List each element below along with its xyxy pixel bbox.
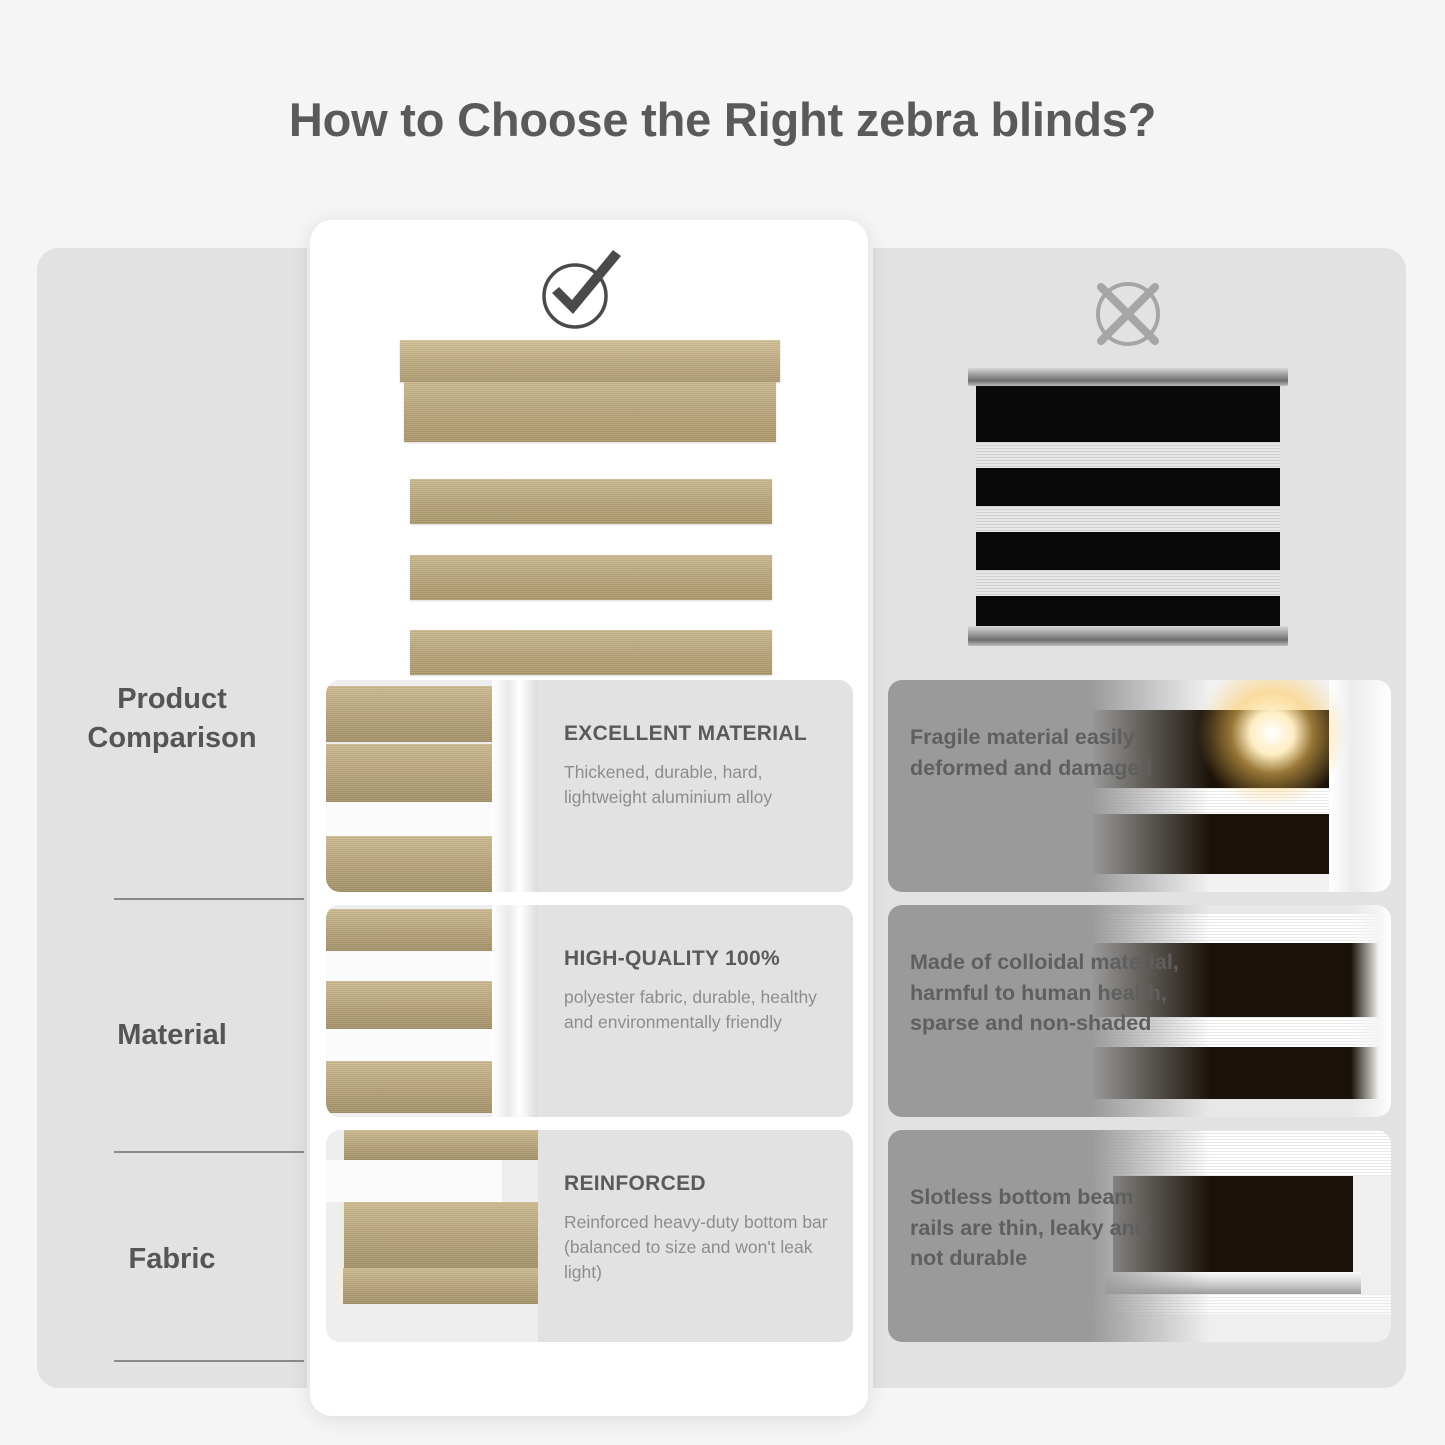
bad-feature-card-fabric: Made of colloidal material, harmful to h… (888, 905, 1391, 1117)
bad-feature-text: Made of colloidal material, harmful to h… (910, 947, 1180, 1039)
cross-circle-icon (1082, 272, 1174, 356)
bad-hero-blind-image (968, 368, 1288, 646)
bad-feature-card-material: Fragile material easily deformed and dam… (888, 680, 1391, 892)
good-feature-card-bottom-beam: REINFORCED Reinforced heavy-duty bottom … (326, 1130, 853, 1342)
bad-feature-text: Slotless bottom beam rails are thin, lea… (910, 1182, 1180, 1274)
good-feature-title: REINFORCED (564, 1172, 835, 1196)
good-feature-title: HIGH-QUALITY 100% (564, 947, 835, 971)
row-label-bottom-beam: Bottom Beam (37, 1440, 307, 1445)
row-label-line2: Comparison (37, 719, 307, 758)
row-label-line1: Product (37, 680, 307, 719)
row-divider (114, 898, 304, 900)
good-hero-blind-image (400, 340, 780, 665)
good-bottom-beam-image (326, 1130, 538, 1342)
good-feature-description: polyester fabric, durable, healthy and e… (564, 985, 835, 1035)
row-label-panel: Product Comparison Material Fabric Botto… (37, 248, 307, 1388)
good-feature-title: EXCELLENT MATERIAL (564, 722, 835, 746)
infographic-page: How to Choose the Right zebra blinds? Pr… (0, 0, 1445, 1445)
row-divider (114, 1360, 304, 1362)
bad-feature-card-bottom-beam: Slotless bottom beam rails are thin, lea… (888, 1130, 1391, 1342)
row-label-fabric: Fabric (37, 1240, 307, 1279)
good-feature-card-fabric: HIGH-QUALITY 100% polyester fabric, dura… (326, 905, 853, 1117)
good-fabric-image (326, 905, 538, 1117)
row-divider (114, 1151, 304, 1153)
good-feature-card-material: EXCELLENT MATERIAL Thickened, durable, h… (326, 680, 853, 892)
row-label-line1: Material (37, 1016, 307, 1055)
bad-material-image (1091, 680, 1391, 892)
good-feature-description: Thickened, durable, hard, lightweight al… (564, 760, 835, 810)
row-label-line1: Fabric (37, 1240, 307, 1279)
check-circle-icon (533, 248, 629, 334)
row-label-material: Material (37, 1016, 307, 1055)
row-label-product-comparison: Product Comparison (37, 680, 307, 758)
good-material-image (326, 680, 538, 892)
page-title: How to Choose the Right zebra blinds? (0, 92, 1445, 147)
row-label-line1: Bottom (37, 1440, 307, 1445)
good-feature-description: Reinforced heavy-duty bottom bar (balanc… (564, 1210, 835, 1285)
bad-feature-text: Fragile material easily deformed and dam… (910, 722, 1180, 783)
